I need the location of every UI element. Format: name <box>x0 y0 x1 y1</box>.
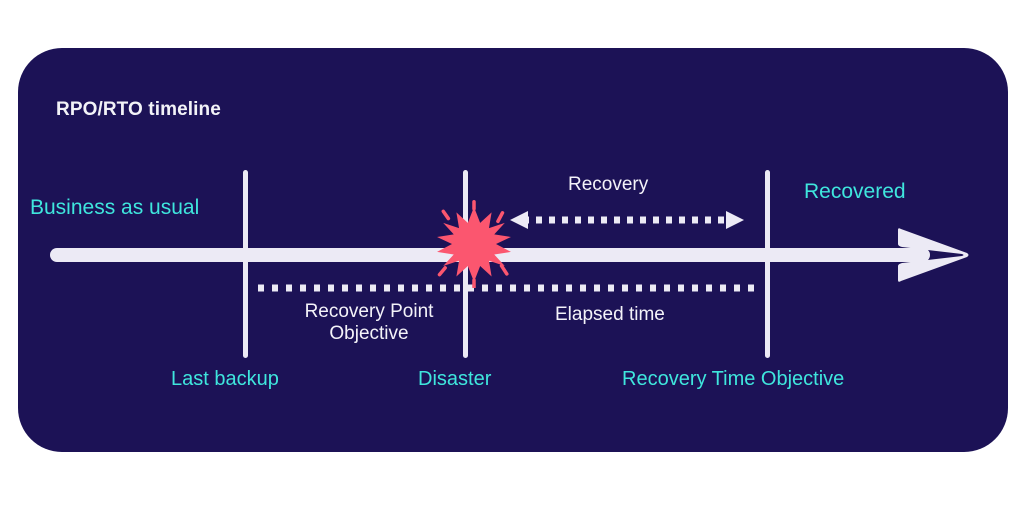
rpo-rto-card: RPO/RTO timeline <box>18 48 1008 452</box>
label-recovery: Recovery <box>568 174 648 196</box>
label-last-backup: Last backup <box>171 368 279 392</box>
label-recovery-time-objective: Recovery Time Objective <box>622 368 844 392</box>
label-business-as-usual: Business as usual <box>30 196 199 221</box>
diagram-canvas: RPO/RTO timeline <box>0 0 1024 512</box>
tick-last-backup <box>243 170 248 358</box>
tick-recovery-time-objective <box>765 170 770 358</box>
label-recovery-point-objective: Recovery Point Objective <box>269 301 469 346</box>
label-elapsed-time: Elapsed time <box>555 304 665 326</box>
label-disaster: Disaster <box>418 368 491 392</box>
disaster-explosion-icon <box>430 200 518 288</box>
label-recovered: Recovered <box>804 180 906 205</box>
recovery-span-arrow <box>510 211 744 229</box>
